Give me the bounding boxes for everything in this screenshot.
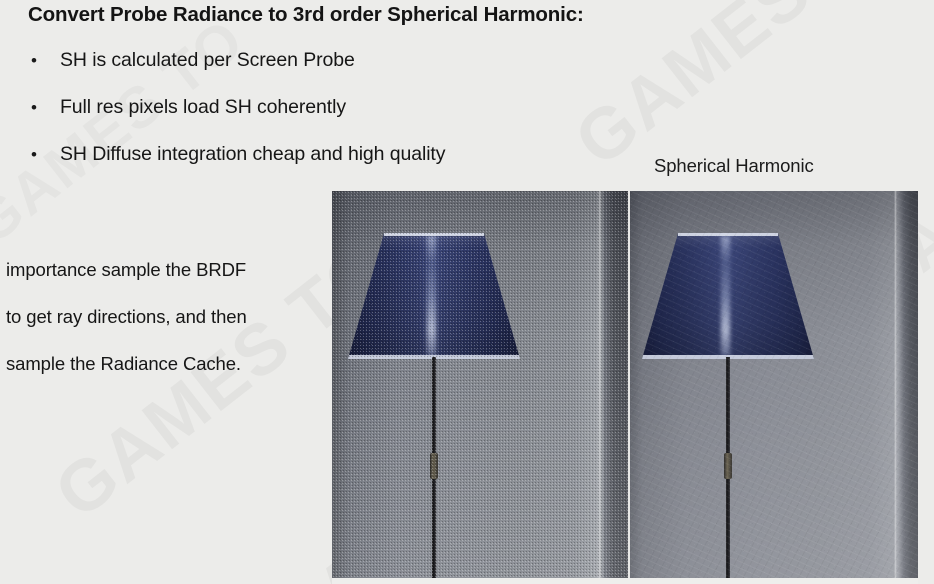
side-note-line: to get ray directions, and then xyxy=(6,305,326,329)
side-note-line: importance sample the BRDF xyxy=(6,258,326,282)
lampshade-highlight xyxy=(427,236,436,357)
image-comparison-figure xyxy=(332,191,918,578)
lamp-left xyxy=(332,191,628,578)
side-note: importance sample the BRDF to get ray di… xyxy=(6,258,326,399)
bullet-marker-icon: • xyxy=(26,95,60,120)
panel-reference-noisy xyxy=(332,191,628,578)
figure-caption: Spherical Harmonic xyxy=(654,155,814,177)
bullet-marker-icon: • xyxy=(26,142,60,167)
list-item: • SH Diffuse integration cheap and high … xyxy=(26,142,626,189)
bullet-list: • SH is calculated per Screen Probe • Fu… xyxy=(26,48,626,189)
page-title: Convert Probe Radiance to 3rd order Sphe… xyxy=(28,0,584,30)
bullet-text: Full res pixels load SH coherently xyxy=(60,95,346,120)
bullet-text: SH is calculated per Screen Probe xyxy=(60,48,355,73)
wall-stucco-texture xyxy=(628,191,918,578)
bullet-text: SH Diffuse integration cheap and high qu… xyxy=(60,142,445,167)
lamp-pole-joint xyxy=(430,453,438,479)
lampshade xyxy=(348,233,520,359)
lampshade-top-rim xyxy=(384,233,484,236)
panel-spherical-harmonic xyxy=(628,191,918,578)
figure-bottom-edge xyxy=(332,578,918,584)
list-item: • Full res pixels load SH coherently xyxy=(26,95,626,142)
side-note-line: sample the Radiance Cache. xyxy=(6,352,326,376)
bullet-marker-icon: • xyxy=(26,48,60,73)
panel-divider xyxy=(628,191,630,578)
list-item: • SH is calculated per Screen Probe xyxy=(26,48,626,95)
